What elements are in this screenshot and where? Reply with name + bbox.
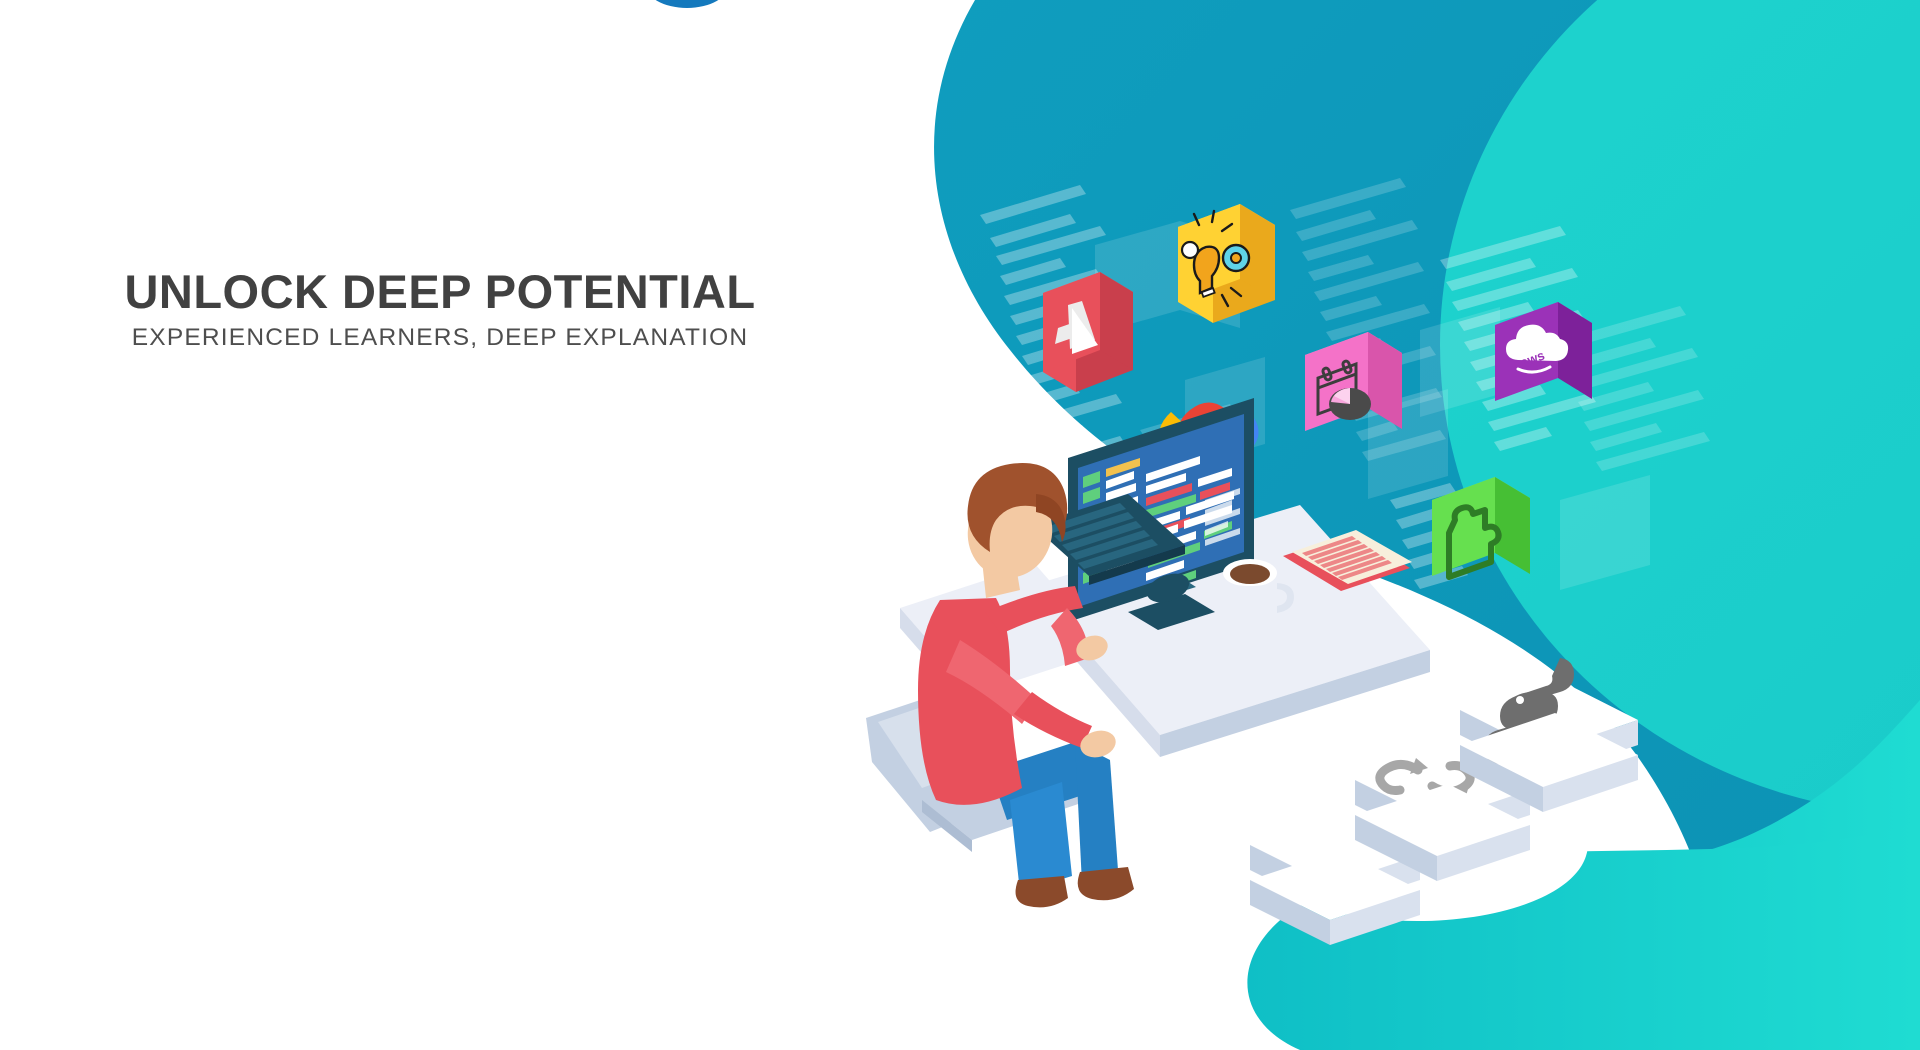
page-subtitle: EXPERIENCED LEARNERS, DEEP EXPLANATION: [0, 324, 880, 352]
page-title: UNLOCK DEEP POTENTIAL: [0, 268, 880, 315]
mug-coffee: [1230, 564, 1270, 584]
hero-banner: UNLOCK DEEP POTENTIAL EXPERIENCED LEARNE…: [0, 0, 1920, 1050]
leg-lower-2: [1010, 782, 1072, 892]
ghost-panel-5: [1560, 475, 1650, 590]
azure-card[interactable]: [1043, 272, 1133, 392]
isometric-illustration: aws: [0, 0, 1920, 1050]
illustration-svg: aws: [0, 0, 1920, 1050]
headline-block: UNLOCK DEEP POTENTIAL EXPERIENCED LEARNE…: [0, 268, 880, 352]
pie-chart-icon: [1329, 388, 1371, 420]
analytics-card[interactable]: [1305, 332, 1402, 431]
shoe-front: [1078, 867, 1134, 900]
shoe-back: [1016, 876, 1068, 907]
leg-lower: [1075, 742, 1118, 884]
arm-near-lower: [1014, 692, 1092, 748]
idea-gear-card[interactable]: [1178, 204, 1275, 323]
